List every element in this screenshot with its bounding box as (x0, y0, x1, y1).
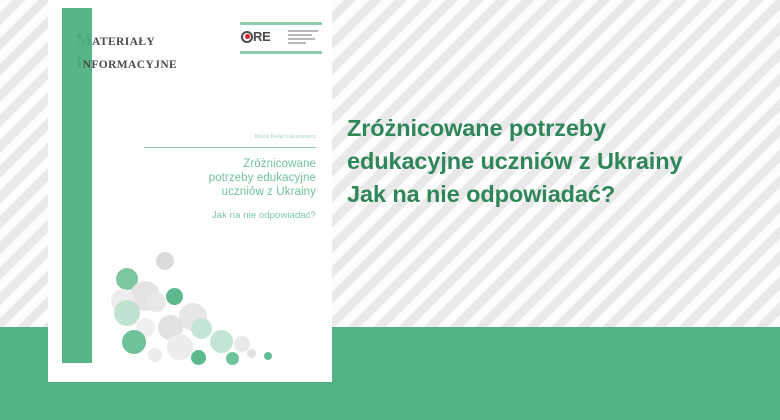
cover-subtitle: Jak na nie odpowiadać? (144, 210, 316, 221)
cover-author: Marta Rafał Łukasiewicz (144, 134, 316, 140)
ore-subline (288, 34, 312, 36)
cover-title-line: potrzeby edukacyjne (144, 171, 316, 185)
bubble-circle (158, 315, 183, 340)
bubble-circle (146, 292, 166, 312)
cover-title-block: Marta Rafał Łukasiewicz Zróżnicowane pot… (144, 134, 316, 221)
headline-line-1: Zróżnicowane potrzeby (347, 112, 767, 145)
ore-sub-text-lines (288, 30, 320, 46)
bubble-circle (166, 288, 183, 305)
bubble-circle (264, 352, 272, 360)
headline-line-2: edukacyjne uczniów z Ukrainy (347, 145, 767, 178)
masthead-rest-informacyjne: NFORMACYJNE (83, 59, 177, 71)
bubble-circle (191, 318, 212, 339)
cover-title-line: uczniów z Ukrainy (144, 185, 316, 199)
page-root: MATERIAŁY INFORMACYJNE RE Marta Rafał Łu… (0, 0, 780, 420)
ore-rule-bottom (240, 51, 322, 54)
ore-circle-icon (241, 31, 253, 43)
ore-subline (288, 30, 318, 32)
bubble-circle (122, 330, 146, 354)
cover-title-line: Zróżnicowane (144, 157, 316, 171)
ore-subline (288, 38, 315, 40)
bubble-circle (247, 349, 256, 358)
book-cover-card[interactable]: MATERIAŁY INFORMACYJNE RE Marta Rafał Łu… (48, 0, 332, 382)
bubble-circle (191, 350, 206, 365)
bubble-circle (130, 281, 160, 311)
bubble-circle (136, 318, 155, 337)
ore-subline (288, 42, 306, 44)
page-headline: Zróżnicowane potrzeby edukacyjne uczniów… (347, 112, 767, 211)
masthead-cap-i: I (76, 53, 83, 72)
ore-letters: RE (253, 29, 270, 44)
cover-masthead: MATERIAŁY INFORMACYJNE (76, 31, 266, 77)
bubble-circle (114, 300, 140, 326)
bubble-circle (111, 289, 135, 313)
masthead-cap-m: M (76, 30, 92, 49)
bubble-circle (148, 348, 162, 362)
masthead-rest-materialy: ATERIAŁY (92, 36, 155, 48)
masthead-line-2: INFORMACYJNE (76, 54, 266, 72)
ore-rule-top (240, 22, 322, 25)
bubble-circle (179, 303, 207, 331)
cover-divider-rule (144, 147, 316, 148)
headline-line-3: Jak na nie odpowiadać? (347, 178, 767, 211)
bubble-circle (167, 334, 193, 360)
ore-logo: RE (240, 22, 322, 54)
bubble-circle (156, 252, 174, 270)
bubble-circle (210, 330, 233, 353)
bubble-circle (226, 352, 239, 365)
bubble-circle (234, 336, 250, 352)
bubble-circle (116, 268, 138, 290)
masthead-line-1: MATERIAŁY (76, 31, 266, 49)
ore-wordmark: RE (241, 29, 270, 44)
